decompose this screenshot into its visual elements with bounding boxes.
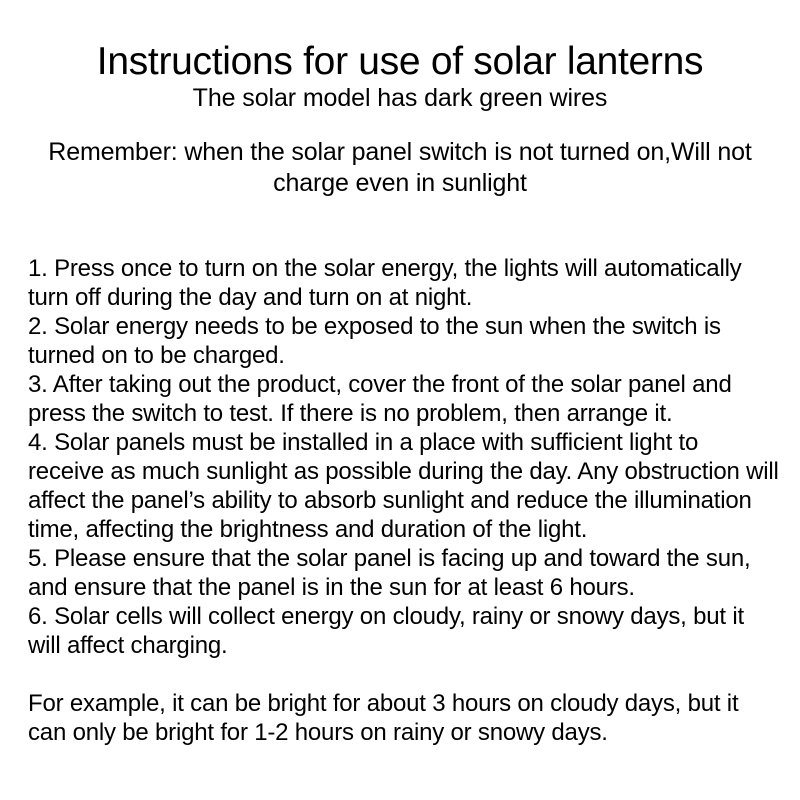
instruction-sheet: Instructions for use of solar lanterns T… <box>0 0 800 800</box>
instruction-item: 6. Solar cells will collect energy on cl… <box>28 602 780 660</box>
instruction-item: 5. Please ensure that the solar panel is… <box>28 544 780 602</box>
instructions-list: 1. Press once to turn on the solar energ… <box>28 254 780 747</box>
paragraph-spacer <box>28 660 780 689</box>
remember-note-line-1: Remember: when the solar panel switch is… <box>24 137 776 168</box>
instruction-item: 3. After taking out the product, cover t… <box>28 370 780 428</box>
subtitle: The solar model has dark green wires <box>0 83 800 113</box>
remember-note-line-2: charge even in sunlight <box>24 168 776 199</box>
instruction-item: 4. Solar panels must be installed in a p… <box>28 428 780 544</box>
example-note: For example, it can be bright for about … <box>28 689 780 747</box>
remember-note: Remember: when the solar panel switch is… <box>24 137 776 199</box>
instruction-item: 1. Press once to turn on the solar energ… <box>28 254 780 312</box>
instruction-item: 2. Solar energy needs to be exposed to t… <box>28 312 780 370</box>
page-title: Instructions for use of solar lanterns <box>0 39 800 85</box>
